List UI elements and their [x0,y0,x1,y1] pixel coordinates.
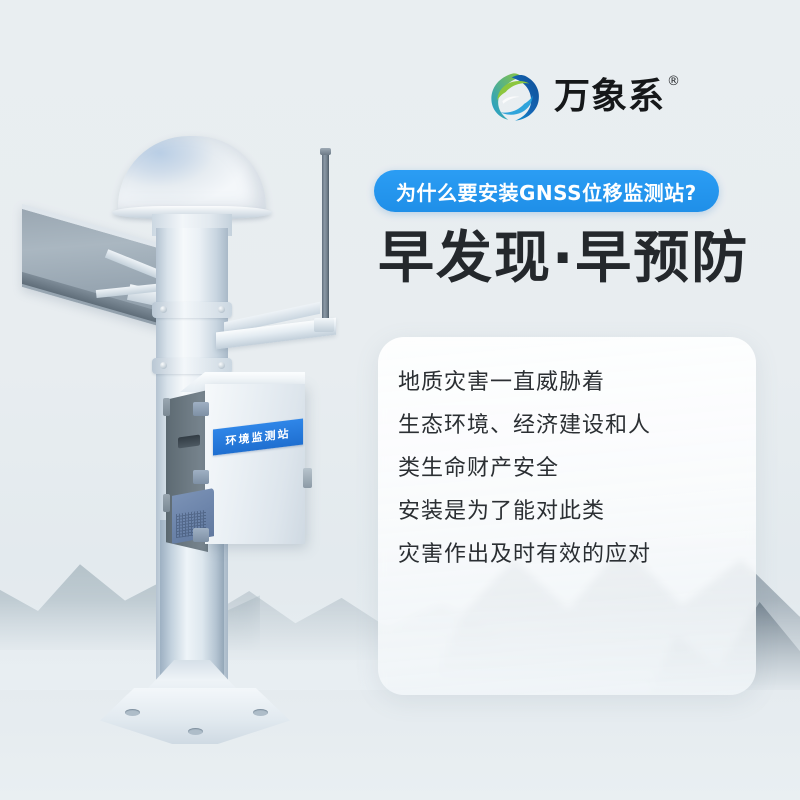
description-line: 类生命财产安全 [398,448,742,491]
base-plate [100,688,290,744]
equipment-enclosure [205,384,305,544]
base-bolt-hole-left [125,709,140,716]
brand-name: 万象系 ® [554,79,665,115]
enclosure-strap-upper [193,402,209,416]
base-bolt-hole-right [253,709,268,716]
globe-swirl-logo-icon [488,70,542,124]
mast-bolt-2 [218,306,225,313]
question-pill-banner: 为什么要安装GNSS位移监测站? [374,170,719,212]
description-line: 安装是为了能对此类 [398,491,742,534]
enclosure-hinge-lower [163,494,170,512]
gnss-antenna-dome-icon [118,136,266,214]
enclosure-hinge-upper [163,398,170,416]
mast-bolt-1 [160,306,167,313]
enclosure-strap-mid [193,470,209,484]
antenna-rod-clamp [314,318,334,332]
description-line: 生态环境、经济建设和人 [398,405,742,448]
brand-name-text: 万象系 [554,76,665,117]
description-line: 地质灾害一直威胁着 [398,362,742,405]
poster-canvas: 环境监测站 [0,0,800,800]
antenna-rod-cap [320,148,331,155]
enclosure-strap-lower [193,528,209,542]
mast-bolt-4 [218,362,225,369]
registered-mark: ® [667,75,681,88]
page-title: 早发现·早预防 [378,228,749,291]
whip-antenna-rod [322,152,329,330]
base-bolt-hole-front [188,728,203,735]
mast-bolt-3 [160,362,167,369]
gnss-monitoring-station: 环境监测站 [0,0,420,800]
description-text: 地质灾害一直威胁着生态环境、经济建设和人类生命财产安全安装是为了能对此类灾害作出… [398,362,742,576]
brand-logo: 万象系 ® [488,68,668,126]
enclosure-latch [303,468,312,488]
description-line: 灾害作出及时有效的应对 [398,534,742,577]
